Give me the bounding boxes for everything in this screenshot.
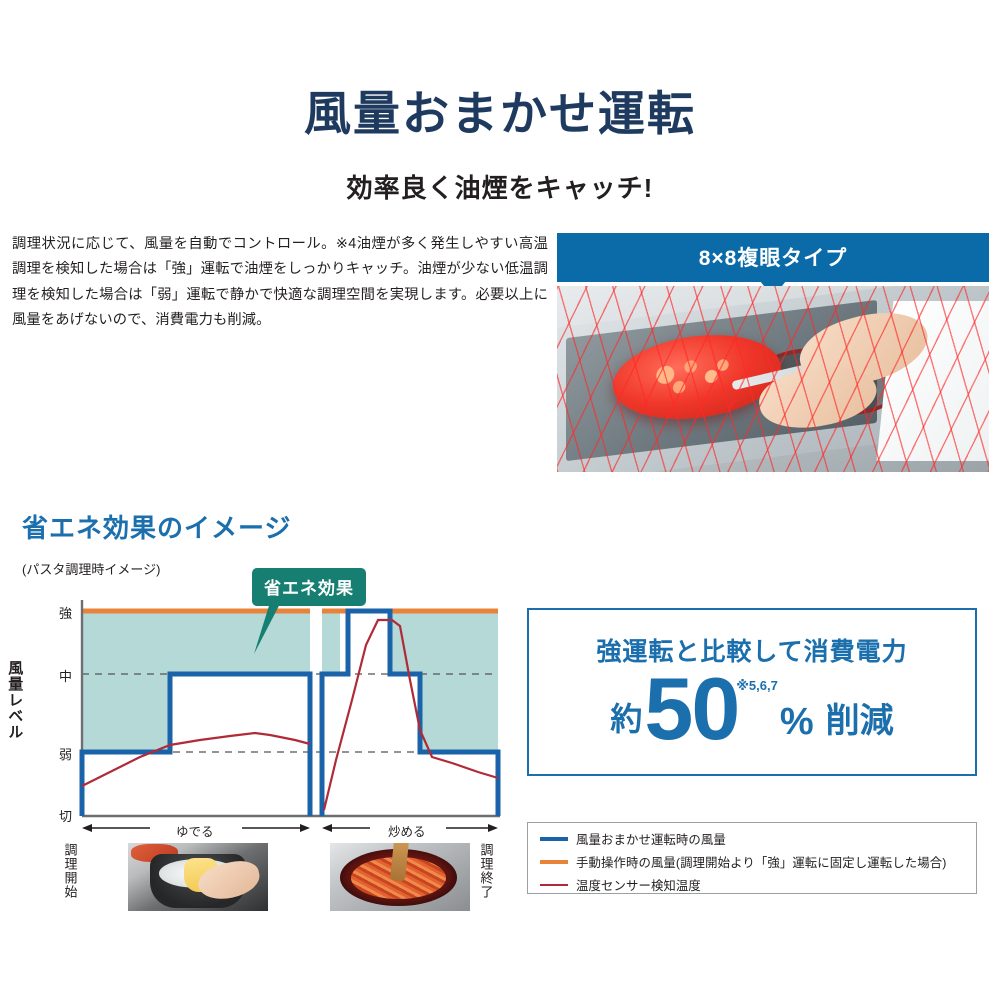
- thumbnail-frying-pasta: [330, 843, 470, 911]
- boiling-photo: [128, 843, 268, 911]
- reduction-figure-row: 約 50 ※5,6,7 % 削減: [529, 672, 975, 746]
- legend-swatch-red-icon: [540, 884, 568, 886]
- reduction-lead-line: 強運転と比較して消費電力: [529, 632, 975, 668]
- thumbnail-boiling-pasta: [128, 843, 268, 911]
- cooktop-sensor-photo: [557, 286, 989, 472]
- chart-plot: [0, 0, 520, 905]
- legend-swatch-blue-icon: [540, 837, 568, 841]
- photo-panel-heading: 8×8複眼タイプ: [557, 233, 989, 282]
- legend-label-temp: 温度センサー検知温度: [576, 876, 701, 894]
- legend-label-auto: 風量おまかせ運転時の風量: [576, 830, 726, 848]
- sensor-grid-overlay: [557, 286, 989, 472]
- product-page: 風量おまかせ運転 効率良く油煙をキャッチ! 調理状況に応じて、風量を自動でコント…: [0, 0, 1000, 1000]
- legend-label-manual: 手動操作時の風量(調理開始より「強」運転に固定し運転した場合): [576, 853, 946, 871]
- legend-item-temp: 温度センサー検知温度: [540, 876, 976, 894]
- photo-panel: 8×8複眼タイプ: [557, 233, 989, 472]
- frying-photo: [330, 843, 470, 911]
- chart-legend: 風量おまかせ運転時の風量 手動操作時の風量(調理開始より「強」運転に固定し運転し…: [527, 822, 977, 894]
- phase-label-fry: 炒める: [388, 821, 426, 840]
- legend-item-auto: 風量おまかせ運転時の風量: [540, 830, 976, 848]
- reduction-suffix: 削減: [816, 693, 894, 746]
- phase-label-boil: ゆでる: [176, 821, 214, 840]
- photo-panel-heading-label: 8×8複眼タイプ: [699, 247, 848, 270]
- reduction-number: 50: [644, 672, 738, 746]
- reduction-box: 強運転と比較して消費電力 約 50 ※5,6,7 % 削減: [527, 608, 977, 776]
- cooking-start-label: 調理開始: [62, 843, 77, 899]
- reduction-percent-sign: %: [780, 701, 814, 746]
- cooking-end-label: 調理終了: [478, 843, 493, 899]
- reduction-footnote: ※5,6,7: [736, 672, 778, 694]
- legend-swatch-orange-icon: [540, 860, 568, 864]
- saving-callout-pointer: [250, 596, 320, 660]
- legend-item-manual: 手動操作時の風量(調理開始より「強」運転に固定し運転した場合): [540, 853, 976, 871]
- reduction-approx: 約: [610, 694, 642, 746]
